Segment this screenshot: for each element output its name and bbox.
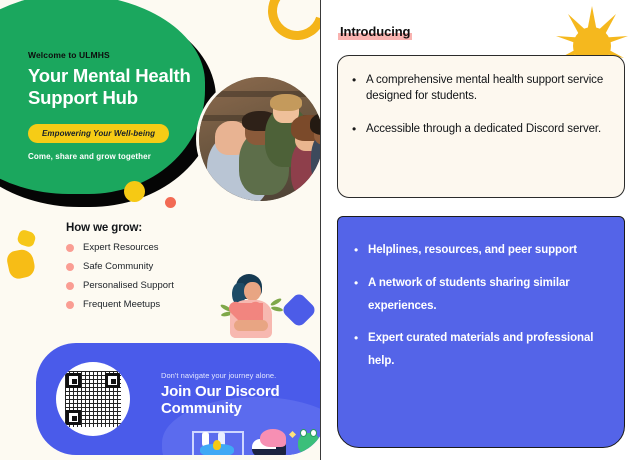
yellow-ring-decoration: [258, 0, 320, 50]
join-discord-card[interactable]: Don't navigate your journey alone. Join …: [36, 343, 320, 455]
discord-heading-line-1: Join Our Discord: [161, 384, 280, 401]
introducing-label: Introducing: [340, 24, 410, 39]
slide-canvas: Welcome to ULMHS Your Mental Health Supp…: [0, 0, 640, 460]
blue-box-item-text: A network of students sharing similar ex…: [368, 272, 610, 317]
bullet-icon: •: [352, 121, 366, 138]
hero-title-line-1: Your Mental Health: [28, 65, 213, 87]
how-we-grow-title: How we grow:: [66, 222, 174, 234]
discord-heading-line-2: Community: [161, 401, 280, 418]
yellow-circle-decoration: [124, 181, 145, 202]
list-item: • Expert curated materials and professio…: [354, 327, 610, 372]
cream-box-item-text: A comprehensive mental health support se…: [366, 72, 610, 105]
right-panel: Introducing • A comprehensive mental hea…: [320, 0, 640, 460]
list-item: Expert Resources: [66, 242, 174, 253]
panel-divider: [320, 0, 321, 460]
list-item: Safe Community: [66, 261, 174, 272]
list-item: • Accessible through a dedicated Discord…: [352, 121, 610, 138]
list-item: Frequent Meetups: [66, 299, 174, 310]
grow-item-label: Personalised Support: [83, 280, 174, 291]
bullet-dot-icon: [66, 282, 74, 290]
features-blue-box: • Helplines, resources, and peer support…: [337, 216, 625, 448]
how-we-grow-section: How we grow: Expert Resources Safe Commu…: [66, 222, 174, 318]
blue-diamond-decoration: [281, 292, 318, 329]
discord-tagline: Don't navigate your journey alone.: [161, 371, 280, 380]
yellow-blob-large-decoration: [5, 248, 36, 281]
list-item: • A network of students sharing similar …: [354, 272, 610, 317]
introducing-heading: Introducing: [338, 24, 412, 39]
coral-dot-decoration: [165, 197, 176, 208]
discord-card-text: Don't navigate your journey alone. Join …: [161, 371, 280, 418]
introducing-cream-box: • A comprehensive mental health support …: [337, 55, 625, 198]
bullet-icon: •: [352, 72, 366, 105]
hero-text-group: Welcome to ULMHS Your Mental Health Supp…: [28, 50, 213, 161]
bullet-icon: •: [354, 239, 368, 262]
students-photo: [196, 74, 320, 204]
discord-heading: Join Our Discord Community: [161, 384, 280, 418]
blue-box-item-text: Helplines, resources, and peer support: [368, 239, 577, 262]
bullet-icon: •: [354, 272, 368, 317]
grow-item-label: Frequent Meetups: [83, 299, 160, 310]
hero-title: Your Mental Health Support Hub: [28, 65, 213, 109]
list-item: • Helplines, resources, and peer support: [354, 239, 610, 262]
bullet-dot-icon: [66, 301, 74, 309]
bullet-icon: •: [354, 327, 368, 372]
tagline-pill-badge: Empowering Your Well-being: [28, 124, 169, 143]
cream-box-item-text: Accessible through a dedicated Discord s…: [366, 121, 601, 138]
hero-title-line-2: Support Hub: [28, 87, 213, 109]
yellow-blob-small-decoration: [16, 229, 37, 249]
grow-item-label: Expert Resources: [83, 242, 159, 253]
bullet-dot-icon: [66, 244, 74, 252]
bullet-dot-icon: [66, 263, 74, 271]
welcome-label: Welcome to ULMHS: [28, 50, 213, 60]
blue-box-item-text: Expert curated materials and professiona…: [368, 327, 610, 372]
playful-objects-illustration: [186, 427, 320, 455]
hero-subtitle: Come, share and grow together: [28, 152, 213, 161]
list-item: Personalised Support: [66, 280, 174, 291]
discord-qr-code[interactable]: [56, 362, 130, 436]
woman-holding-heart-illustration: [222, 274, 280, 336]
list-item: • A comprehensive mental health support …: [352, 72, 610, 105]
left-panel: Welcome to ULMHS Your Mental Health Supp…: [0, 0, 320, 460]
grow-item-label: Safe Community: [83, 261, 153, 272]
